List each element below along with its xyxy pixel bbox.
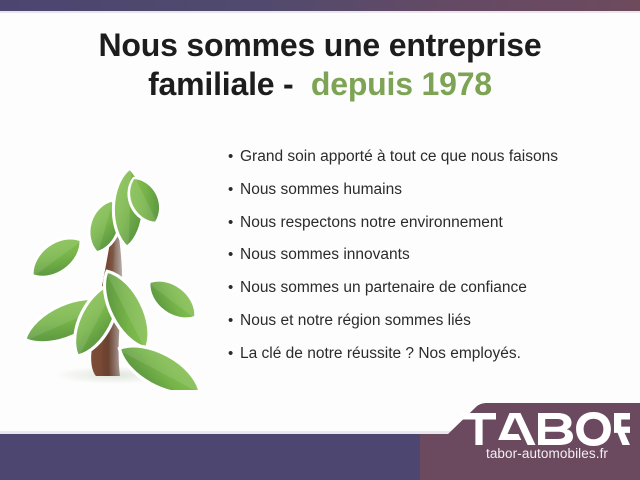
list-item-label: Nous sommes un partenaire de confiance <box>240 279 527 297</box>
list-item-label: Nous sommes innovants <box>240 246 410 264</box>
top-accent-bar-hairline <box>0 11 640 13</box>
list-item: • Nous et notre région sommes liés <box>228 312 628 330</box>
top-accent-bar <box>0 0 640 11</box>
list-item: • Grand soin apporté à tout ce que nous … <box>228 148 628 166</box>
tree-illustration-svg <box>8 152 212 390</box>
list-item-label: Nous et notre région sommes liés <box>240 312 471 330</box>
list-item: • Nous respectons notre environnement <box>228 214 628 232</box>
list-item-label: Nous respectons notre environnement <box>240 214 503 232</box>
list-item: • Nous sommes humains <box>228 181 628 199</box>
leaf-right-mid-small <box>141 271 204 329</box>
brand-tagline: tabor-automobiles.fr <box>462 447 632 462</box>
bullet-marker-icon: • <box>228 182 240 197</box>
brand-logo[interactable]: tabor-automobiles.fr <box>462 412 632 462</box>
tabor-wordmark-icon <box>462 412 630 446</box>
headline-line-1: Nous sommes une entreprise <box>99 27 542 63</box>
tree-illustration <box>8 152 212 390</box>
bullet-marker-icon: • <box>228 313 240 328</box>
leaf-left-mid <box>24 228 89 287</box>
list-item-label: Grand soin apporté à tout ce que nous fa… <box>240 148 558 166</box>
slide-headline: Nous sommes une entreprise familiale - d… <box>0 26 640 104</box>
list-item: • Nous sommes un partenaire de confiance <box>228 279 628 297</box>
list-item: • La clé de notre réussite ? Nos employé… <box>228 345 628 363</box>
bullet-marker-icon: • <box>228 149 240 164</box>
list-item-label: La clé de notre réussite ? Nos employés. <box>240 345 521 363</box>
list-item-label: Nous sommes humains <box>240 181 402 199</box>
bullet-marker-icon: • <box>228 215 240 230</box>
headline-accent: depuis 1978 <box>311 66 492 102</box>
list-item: • Nous sommes innovants <box>228 246 628 264</box>
bullet-marker-icon: • <box>228 247 240 262</box>
slide-canvas: Nous sommes une entreprise familiale - d… <box>0 0 640 480</box>
headline-line-2: familiale - depuis 1978 <box>0 65 640 104</box>
headline-line-2-plain: familiale - <box>148 66 311 102</box>
bullet-marker-icon: • <box>228 280 240 295</box>
bullet-marker-icon: • <box>228 346 240 361</box>
value-bullet-list: • Grand soin apporté à tout ce que nous … <box>228 148 628 363</box>
